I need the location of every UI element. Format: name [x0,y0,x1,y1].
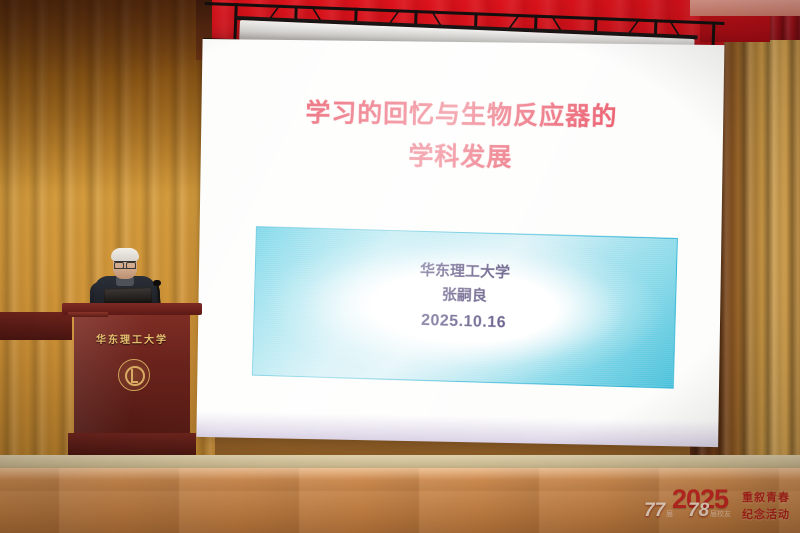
watermark-line-1: 重叙青春 [742,489,790,505]
slide-title-line-2: 学科发展 [200,132,722,181]
slide-title-line-1: 学习的回忆与生物反应器的 [201,91,723,140]
glasses-icon [114,261,136,269]
podium-name-plate: 华东理工大学 [74,331,190,346]
podium-front-panel: 华东理工大学 [74,315,190,433]
podium: 华东理工大学 [68,303,196,455]
slide-info-panel-text: 华东理工大学 张嗣良 2025.10.16 [254,227,677,341]
screen-bottom-tint [196,411,718,447]
watermark-class-b: 78 [688,500,709,522]
podium-side-ledge [68,312,108,317]
truss-web [233,3,237,41]
projection-screen: 学习的回忆与生物反应器的 学科发展 华东理工大学 张嗣良 2025.10.16 [196,39,724,447]
ceiling-panel [690,0,800,16]
ecust-emblem-icon [118,359,150,391]
microphone-icon [153,280,161,286]
watermark-jie-b: 届校友 [710,509,731,519]
side-console-table [0,312,72,340]
anniversary-watermark: 2025 77 届 78 届校友 重叙青春 纪念活动 [640,483,792,527]
watermark-class-a: 77 [644,500,665,522]
watermark-line-2: 纪念活动 [742,506,790,522]
presenter-hair [111,248,139,261]
slide-info-panel: 华东理工大学 张嗣良 2025.10.16 [252,226,678,388]
watermark-jie-a: 届 [666,509,673,519]
podium-base [68,433,196,455]
laptop-screen [105,288,151,302]
auditorium-stage-photo: 学习的回忆与生物反应器的 学科发展 华东理工大学 张嗣良 2025.10.16 [0,0,800,533]
slide-title: 学习的回忆与生物反应器的 学科发展 [200,91,723,182]
